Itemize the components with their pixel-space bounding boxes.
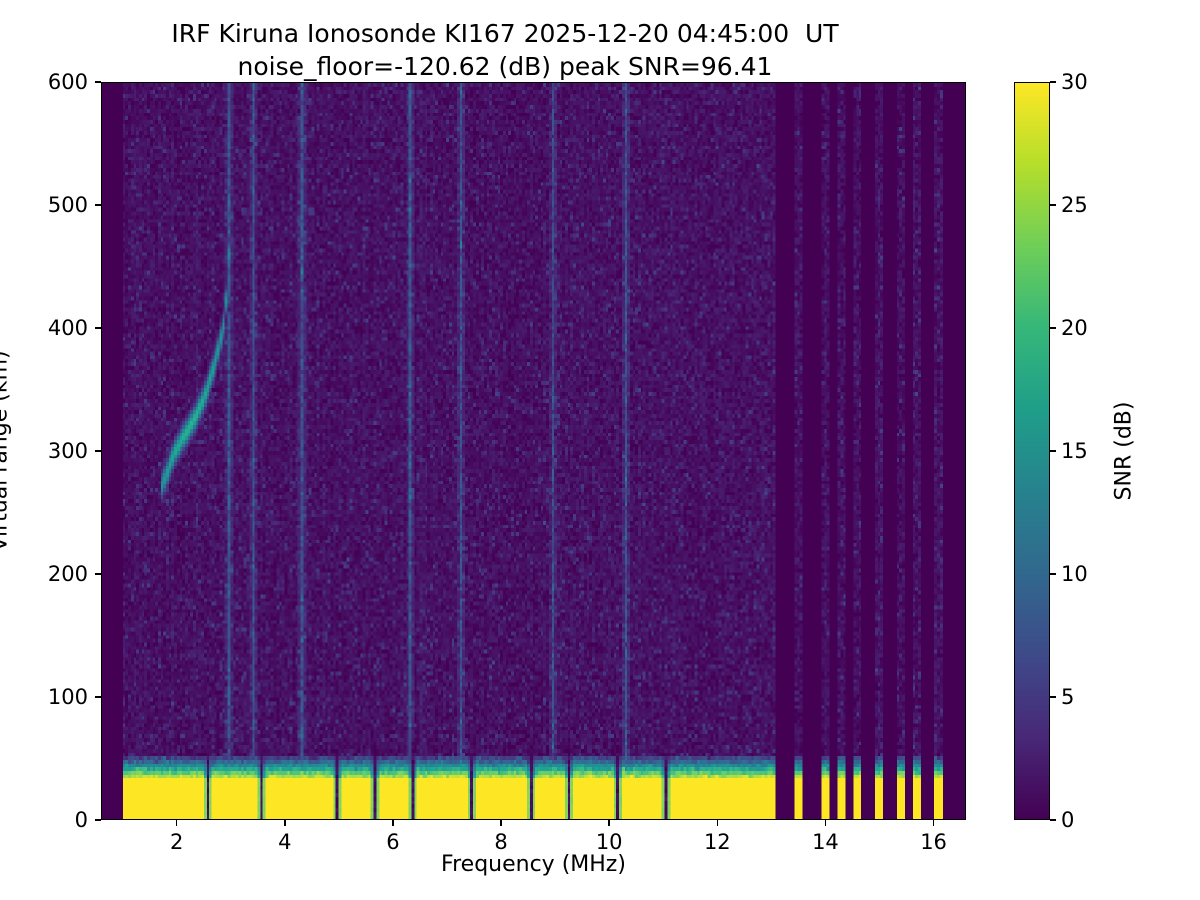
colorbar[interactable] [1014,82,1050,820]
y-tick-mark [95,573,101,574]
y-axis-label: Virtual range (km) [0,350,13,551]
colorbar-tick-mark [1050,819,1056,820]
colorbar-tick-mark [1050,81,1056,82]
y-tick-mark [95,450,101,451]
title-line-1: IRF Kiruna Ionosonde KI167 2025-12-20 04… [0,18,1010,51]
x-tick-mark [284,820,285,826]
colorbar-tick-label: 30 [1061,70,1088,94]
x-tick-label: 4 [278,830,291,854]
y-tick-label: 600 [0,70,88,94]
colorbar-tick-mark [1050,573,1056,574]
x-tick-mark [500,820,501,826]
colorbar-tick-label: 10 [1061,562,1088,586]
colorbar-tick-label: 15 [1061,439,1088,463]
x-tick-label: 8 [494,830,507,854]
ionogram-heatmap [102,83,965,819]
x-tick-mark [933,820,934,826]
colorbar-tick-label: 25 [1061,193,1088,217]
figure-title: IRF Kiruna Ionosonde KI167 2025-12-20 04… [0,18,1010,83]
y-tick-mark [95,204,101,205]
x-tick-label: 6 [386,830,399,854]
y-tick-label: 300 [0,439,88,463]
x-tick-label: 16 [920,830,947,854]
x-tick-mark [825,820,826,826]
colorbar-label: SNR (dB) [1112,402,1137,501]
colorbar-gradient [1015,83,1049,819]
y-tick-label: 100 [0,685,88,709]
colorbar-tick-mark [1050,327,1056,328]
x-tick-mark [717,820,718,826]
y-tick-mark [95,696,101,697]
y-tick-mark [95,819,101,820]
y-tick-label: 0 [0,808,88,832]
colorbar-tick-mark [1050,204,1056,205]
x-tick-label: 10 [596,830,623,854]
x-axis-label: Frequency (MHz) [101,852,966,877]
y-tick-label: 200 [0,562,88,586]
x-tick-mark [176,820,177,826]
x-tick-label: 2 [170,830,183,854]
x-tick-label: 12 [704,830,731,854]
colorbar-tick-label: 0 [1061,808,1074,832]
title-line-2: noise_floor=-120.62 (dB) peak SNR=96.41 [0,51,1010,84]
x-tick-mark [392,820,393,826]
ionogram-plot-area[interactable] [101,82,966,820]
colorbar-tick-mark [1050,696,1056,697]
y-tick-label: 500 [0,193,88,217]
colorbar-tick-label: 20 [1061,316,1088,340]
y-tick-mark [95,327,101,328]
y-tick-mark [95,81,101,82]
ionogram-figure: IRF Kiruna Ionosonde KI167 2025-12-20 04… [0,0,1200,900]
y-tick-label: 400 [0,316,88,340]
colorbar-tick-label: 5 [1061,685,1074,709]
x-tick-label: 14 [812,830,839,854]
colorbar-tick-mark [1050,450,1056,451]
x-tick-mark [608,820,609,826]
